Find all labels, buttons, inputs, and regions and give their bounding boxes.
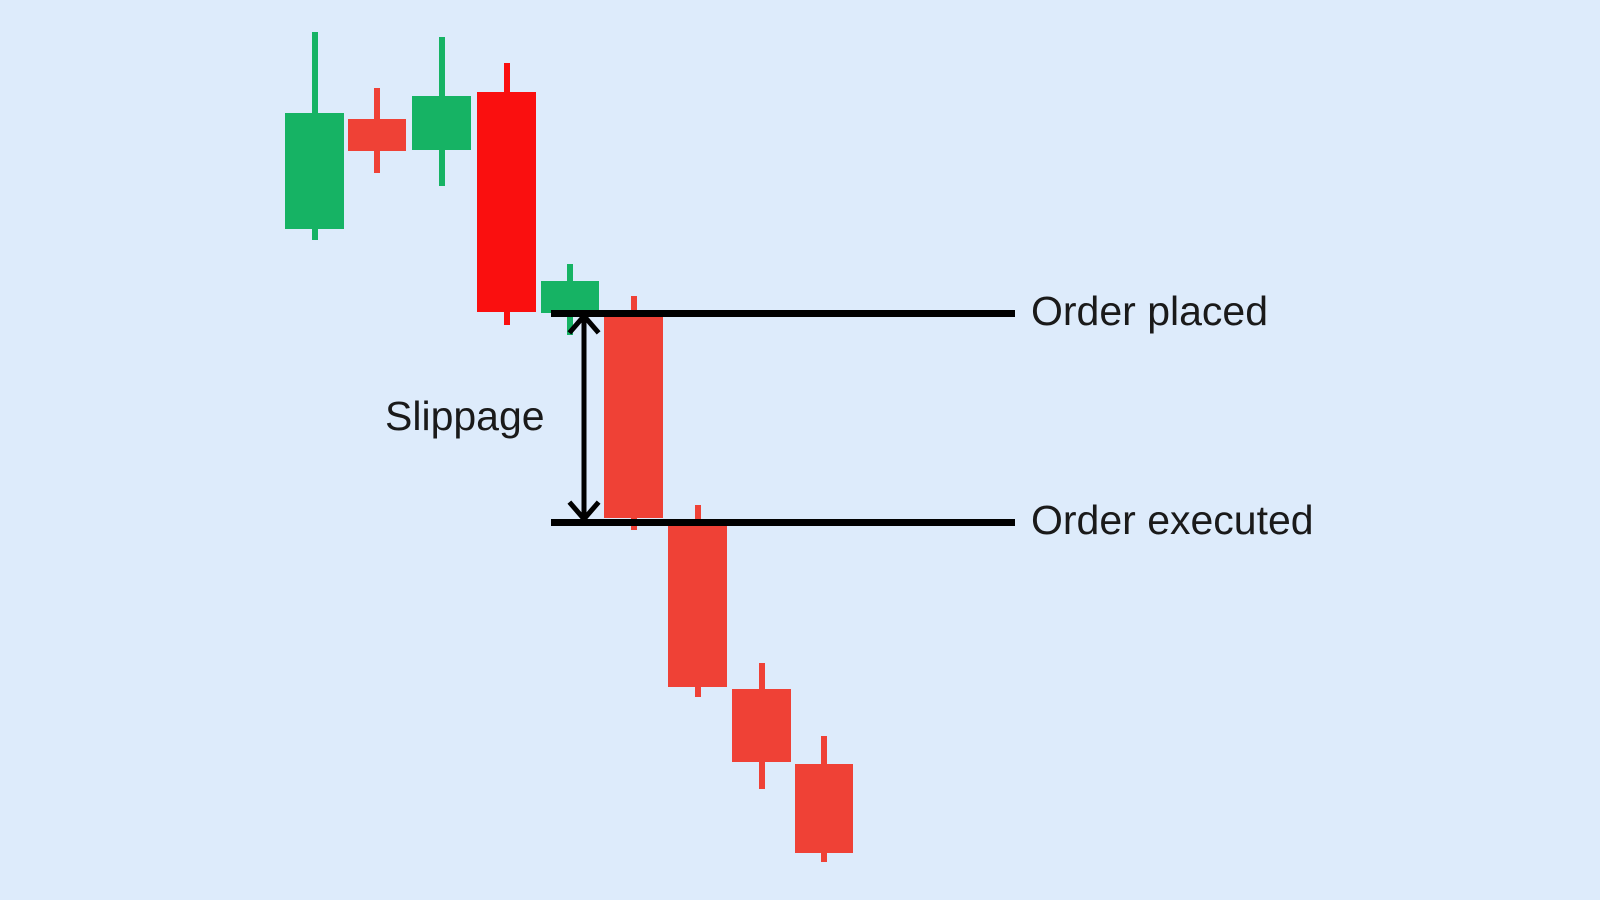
candlestick-body xyxy=(732,689,791,762)
candlestick-body xyxy=(412,96,471,150)
candlestick-body xyxy=(604,313,663,518)
chart-canvas: Order placed Order executed Slippage xyxy=(0,0,1600,900)
candlestick-body xyxy=(477,92,536,312)
candlestick-4 xyxy=(477,63,536,325)
order-placed-label: Order placed xyxy=(1031,291,1268,332)
candlestick-body xyxy=(541,281,599,313)
candlestick-body xyxy=(668,522,727,687)
order-placed-level-line xyxy=(551,310,1015,317)
candlestick-body xyxy=(795,764,853,853)
candlestick-body xyxy=(348,119,406,151)
order-executed-label: Order executed xyxy=(1031,500,1314,541)
order-executed-level-line xyxy=(551,519,1015,526)
candlestick-body xyxy=(285,113,344,229)
candlestick-3 xyxy=(412,37,471,186)
slippage-label: Slippage xyxy=(385,396,545,437)
candlestick-1 xyxy=(285,32,344,240)
candlestick-8 xyxy=(732,663,791,789)
candlestick-9 xyxy=(795,736,853,862)
candlestick-7 xyxy=(668,505,727,697)
candlestick-6 xyxy=(604,296,663,530)
slippage-arrow-icon xyxy=(564,313,604,522)
candlestick-2 xyxy=(348,88,406,173)
